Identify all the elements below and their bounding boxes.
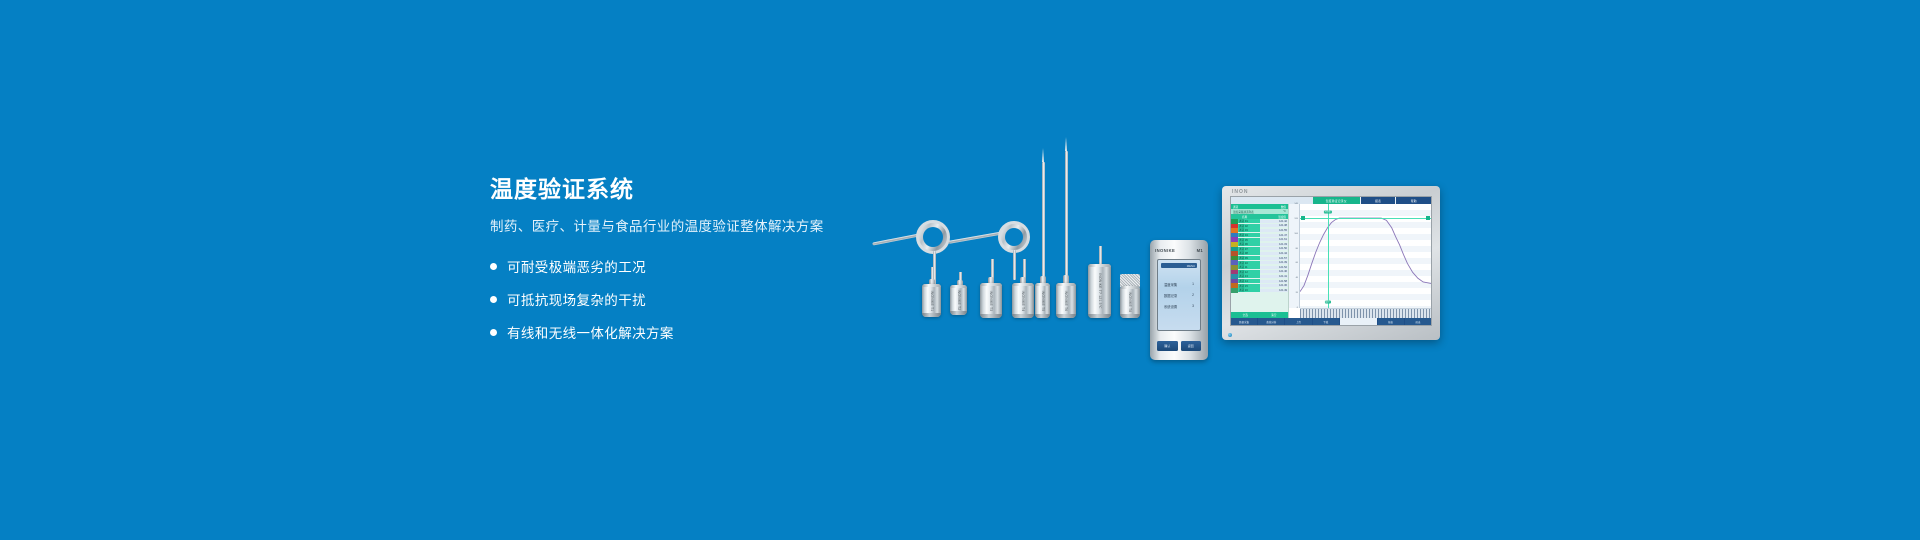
channel-table: 通道 数值 温度采集通道列表 ℃ 名称 温度值 通道 01121.42通道 02… bbox=[1231, 204, 1289, 318]
axis-tick-label: 80 bbox=[1296, 248, 1298, 250]
chart-ref-marker-right bbox=[1426, 216, 1430, 220]
list-item: 有线和无线一体化解决方案 bbox=[490, 322, 910, 342]
menu-value: 3 bbox=[1192, 304, 1194, 309]
feature-label: 有线和无线一体化解决方案 bbox=[507, 322, 674, 342]
toolbar-button[interactable]: 曲线分析 bbox=[1258, 318, 1284, 325]
axis-tick-label: 20 bbox=[1296, 292, 1298, 294]
monitor-display-device: INON 温度验证记录仪 报表 帮助 通道 数值 温度采集通道列表 ℃ bbox=[1222, 186, 1440, 340]
channel-value: 121.41 bbox=[1260, 275, 1288, 278]
tab-spacer bbox=[1231, 197, 1313, 204]
software-body: 通道 数值 温度采集通道列表 ℃ 名称 温度值 通道 01121.42通道 02… bbox=[1231, 204, 1431, 318]
axis-tick-label: 120 bbox=[1294, 218, 1298, 220]
header-right: 数值 bbox=[1281, 205, 1286, 209]
channel-name: 通道 08 bbox=[1238, 251, 1260, 255]
menu-label: 系统设置 bbox=[1164, 304, 1177, 309]
axis-tick-label: 100 bbox=[1294, 233, 1298, 235]
chart-cursor-marker: 光标线 bbox=[1323, 211, 1331, 214]
temperature-chart: 140120100806040200 光标线 起点 bbox=[1289, 204, 1431, 318]
channel-value: 121.42 bbox=[1260, 220, 1288, 223]
bullet-icon bbox=[490, 329, 497, 336]
handheld-screen-titlebar: MENU bbox=[1161, 263, 1197, 268]
channel-name: 通道 14 bbox=[1238, 279, 1260, 283]
logger-label: INONIKE T2 bbox=[957, 290, 961, 311]
toolbar-button[interactable]: 退出 bbox=[1405, 318, 1431, 325]
table-row[interactable]: 通道 16121.49 bbox=[1231, 288, 1288, 293]
list-item: 温度采集 1 bbox=[1164, 282, 1194, 287]
handheld-screen: MENU 温度采集 1 数据记录 2 系统设置 3 bbox=[1157, 259, 1201, 331]
hero-text-block: 温度验证系统 制药、医疗、计量与食品行业的温度验证整体解决方案 可耐受极端恶劣的… bbox=[490, 176, 910, 355]
monitor-screen: 温度验证记录仪 报表 帮助 通道 数值 温度采集通道列表 ℃ bbox=[1230, 196, 1432, 326]
logger-label: INONIKE T7 121.5℃ bbox=[1098, 273, 1102, 308]
channel-name: 通道 05 bbox=[1238, 238, 1260, 242]
channel-name: 通道 13 bbox=[1238, 274, 1260, 278]
subheader-left: 温度采集通道列表 bbox=[1233, 210, 1254, 214]
bullet-icon bbox=[490, 263, 497, 270]
list-item: 可耐受极端恶劣的工况 bbox=[490, 256, 910, 276]
toolbar-button[interactable]: 上传 bbox=[1285, 318, 1311, 325]
menu-label: 数据记录 bbox=[1164, 293, 1177, 298]
menu-value: 1 bbox=[1192, 282, 1194, 287]
channel-name: 通道 16 bbox=[1238, 288, 1260, 292]
handheld-back-button: 返回 bbox=[1181, 341, 1202, 351]
channel-name: 通道 15 bbox=[1238, 284, 1260, 288]
handheld-brand-bar: INONIKE M1 bbox=[1155, 246, 1203, 255]
chart-x-axis bbox=[1300, 308, 1431, 318]
channel-name: 通道 12 bbox=[1238, 270, 1260, 274]
logger-label: INONIKE T5 bbox=[1041, 290, 1045, 311]
toolbar-button[interactable]: 数据采集 bbox=[1231, 318, 1257, 325]
chart-cursor-line bbox=[1328, 204, 1329, 308]
channel-value: 121.47 bbox=[1260, 234, 1288, 237]
header-left: 通道 bbox=[1233, 205, 1238, 209]
logger-label: INONIKE T4 bbox=[1021, 290, 1025, 311]
channel-value: 121.50 bbox=[1260, 247, 1288, 250]
axis-tick-label: 140 bbox=[1294, 203, 1298, 205]
page-subtitle: 制药、医疗、计量与食品行业的温度验证整体解决方案 bbox=[490, 218, 910, 237]
list-item: 数据记录 2 bbox=[1164, 293, 1194, 298]
hero-banner: 温度验证系统 制药、医疗、计量与食品行业的温度验证整体解决方案 可耐受极端恶劣的… bbox=[0, 0, 1920, 540]
channel-name: 通道 02 bbox=[1238, 224, 1260, 228]
page-title: 温度验证系统 bbox=[490, 176, 910, 204]
handheld-menu-list: 温度采集 1 数据记录 2 系统设置 3 bbox=[1161, 282, 1197, 309]
axis-tick-label: 60 bbox=[1296, 262, 1298, 264]
list-item: 系统设置 3 bbox=[1164, 304, 1194, 309]
chart-reference-line bbox=[1300, 218, 1431, 219]
channel-name: 通道 04 bbox=[1238, 233, 1260, 237]
channel-value: 121.57 bbox=[1260, 257, 1288, 260]
handheld-confirm-button: 确认 bbox=[1157, 341, 1178, 351]
channel-value: 121.36 bbox=[1260, 284, 1288, 287]
channel-value: 121.33 bbox=[1260, 243, 1288, 246]
handheld-screen-title: MENU bbox=[1187, 264, 1195, 268]
monitor-brand-label: INON bbox=[1232, 189, 1249, 195]
channel-value: 121.55 bbox=[1260, 229, 1288, 232]
toolbar-button[interactable]: 下载 bbox=[1313, 318, 1339, 325]
list-item: 可抵抗现场复杂的干扰 bbox=[490, 289, 910, 309]
axis-tick-label: 40 bbox=[1296, 277, 1298, 279]
axis-tick-label: 0 bbox=[1297, 307, 1298, 309]
channel-value: 121.46 bbox=[1260, 270, 1288, 273]
toolbar-spacer bbox=[1340, 318, 1377, 325]
channel-value: 121.39 bbox=[1260, 261, 1288, 264]
tab-help: 帮助 bbox=[1395, 197, 1431, 204]
bullet-icon bbox=[490, 296, 497, 303]
feature-list: 可耐受极端恶劣的工况 可抵抗现场复杂的干扰 有线和无线一体化解决方案 bbox=[490, 256, 910, 342]
channel-name: 通道 06 bbox=[1238, 242, 1260, 246]
channel-value: 121.52 bbox=[1260, 266, 1288, 269]
channel-name: 通道 09 bbox=[1238, 256, 1260, 260]
channel-value: 121.61 bbox=[1260, 238, 1288, 241]
chart-series-path bbox=[1300, 204, 1431, 308]
chart-y-axis: 140120100806040200 bbox=[1289, 204, 1300, 308]
column-value: 温度值 bbox=[1262, 215, 1286, 219]
logger-label: INONIKE T3 bbox=[989, 290, 993, 311]
toolbar-button[interactable]: 报表 bbox=[1378, 318, 1404, 325]
chart-plot-area: 光标线 起点 bbox=[1300, 204, 1431, 308]
logger-label: INONIKE T8 bbox=[1128, 292, 1132, 313]
chart-ref-marker-left bbox=[1301, 216, 1305, 220]
software-toolbar: 数据采集曲线分析上传下载报表退出 bbox=[1231, 318, 1431, 325]
channel-name: 通道 03 bbox=[1238, 228, 1260, 232]
channel-value: 121.58 bbox=[1260, 280, 1288, 283]
channel-name: 通道 01 bbox=[1238, 219, 1260, 223]
channel-value: 121.44 bbox=[1260, 252, 1288, 255]
channel-name: 通道 11 bbox=[1238, 265, 1260, 269]
menu-label: 温度采集 bbox=[1164, 282, 1177, 287]
feature-label: 可耐受极端恶劣的工况 bbox=[507, 256, 646, 276]
handheld-reader-device: INONIKE M1 MENU 温度采集 1 数据记录 2 系统设置 3 bbox=[1150, 240, 1208, 360]
feature-label: 可抵抗现场复杂的干扰 bbox=[507, 289, 646, 309]
tab-report: 报表 bbox=[1360, 197, 1396, 204]
channel-name: 通道 07 bbox=[1238, 247, 1260, 251]
subheader-right: ℃ bbox=[1283, 210, 1286, 213]
channel-color-swatch bbox=[1231, 288, 1238, 293]
handheld-model-label: M1 bbox=[1197, 248, 1203, 253]
software-tab-bar: 温度验证记录仪 报表 帮助 bbox=[1231, 197, 1431, 204]
chart-bottom-marker: 起点 bbox=[1324, 300, 1330, 303]
monitor-power-indicator bbox=[1228, 333, 1232, 337]
column-name: 名称 bbox=[1242, 215, 1260, 219]
logger-label: INONIKE T1 bbox=[930, 290, 934, 311]
channel-name: 通道 10 bbox=[1238, 261, 1260, 265]
handheld-button-row: 确认 返回 bbox=[1157, 341, 1201, 351]
channel-value: 121.49 bbox=[1260, 289, 1288, 292]
channel-value: 121.38 bbox=[1260, 224, 1288, 227]
tab-recorder: 温度验证记录仪 bbox=[1313, 197, 1360, 204]
handheld-brand-label: INONIKE bbox=[1155, 248, 1175, 253]
channel-row-list: 通道 01121.42通道 02121.38通道 03121.55通道 0412… bbox=[1231, 219, 1288, 312]
logger-label: INONIKE T6 bbox=[1064, 290, 1068, 311]
menu-value: 2 bbox=[1192, 293, 1194, 298]
